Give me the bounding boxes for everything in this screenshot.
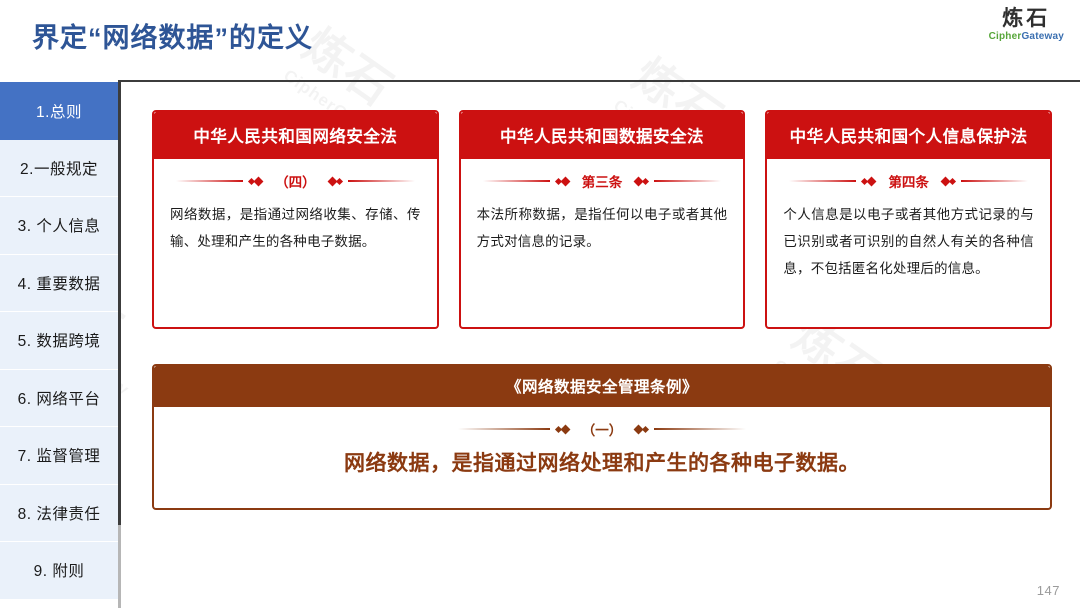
sidebar-item-5[interactable]: 5. 数据跨境 — [0, 312, 118, 370]
sidebar-item-8[interactable]: 8. 法律责任 — [0, 485, 118, 543]
ornate-divider: 第三条 — [477, 171, 728, 191]
ornate-divider: （四） — [170, 171, 421, 191]
law-card-personal-information: 中华人民共和国个人信息保护法 第四条 个人信息是以电子或者其他方式记录的与已识 — [765, 110, 1052, 329]
divider-diamonds-right — [635, 178, 648, 185]
sidebar-item-2[interactable]: 2.一般规定 — [0, 140, 118, 198]
regulation-box: 《网络数据安全管理条例》 （一） 网络数据，是指通过网络处理和产生的各种电子数据… — [152, 364, 1052, 510]
ornate-divider: （一） — [452, 419, 752, 439]
divider-rule-left — [176, 180, 243, 182]
sidebar-item-4[interactable]: 4. 重要数据 — [0, 255, 118, 313]
law-card-body: （四） 网络数据，是指通过网络收集、存储、传输、处理和产生的各种电子数据。 — [154, 159, 437, 327]
law-card-row: 中华人民共和国网络安全法 （四） 网络数据，是指通过网络收集、存储、传输、处理 — [152, 110, 1052, 329]
law-card-data-security: 中华人民共和国数据安全法 第三条 本法所称数据，是指任何以电子或者其他方式对信 — [459, 110, 746, 329]
law-card-text: 网络数据，是指通过网络收集、存储、传输、处理和产生的各种电子数据。 — [170, 201, 421, 255]
divider-diamonds-left — [249, 178, 262, 185]
sidebar-item-label: 6. 网络平台 — [18, 387, 101, 409]
logo-en-gateway: Gateway — [1021, 31, 1064, 42]
slide-canvas: 炼石 CipherGateway 炼石 CipherGateway 炼石 Cip… — [0, 0, 1080, 608]
logo-en-cipher: Cipher — [989, 31, 1022, 42]
regulation-body: （一） 网络数据，是指通过网络处理和产生的各种电子数据。 — [154, 419, 1050, 477]
sidebar-item-7[interactable]: 7. 监督管理 — [0, 427, 118, 485]
regulation-text: 网络数据，是指通过网络处理和产生的各种电子数据。 — [178, 447, 1026, 477]
diamond-icon — [254, 176, 264, 186]
sidebar-item-label: 7. 监督管理 — [18, 444, 101, 466]
divider-rule-left — [483, 180, 550, 182]
diamond-icon — [949, 177, 956, 184]
page-number: 147 — [1037, 583, 1060, 598]
logo-en-text: CipherGateway — [989, 32, 1064, 42]
diamond-icon — [867, 176, 877, 186]
divider-rule-left — [458, 428, 550, 430]
divider-rule-right — [654, 428, 746, 430]
clause-label: 第三条 — [575, 171, 630, 191]
sidebar-item-label: 9. 附则 — [34, 559, 85, 581]
divider-rule-right — [961, 180, 1028, 182]
divider-rule-right — [348, 180, 415, 182]
clause-label: （一） — [575, 419, 630, 439]
sidebar-item-label: 1.总则 — [36, 100, 82, 122]
divider-diamonds-right — [942, 178, 955, 185]
law-card-body: 第四条 个人信息是以电子或者其他方式记录的与已识别或者可识别的自然人有关的各种信… — [767, 159, 1050, 327]
diamond-icon — [642, 425, 649, 432]
sidebar-item-label: 4. 重要数据 — [18, 272, 101, 294]
divider-diamonds-left — [556, 426, 569, 433]
law-card-cybersecurity: 中华人民共和国网络安全法 （四） 网络数据，是指通过网络收集、存储、传输、处理 — [152, 110, 439, 329]
divider-diamonds-left — [556, 178, 569, 185]
regulation-title: 《网络数据安全管理条例》 — [152, 364, 1052, 407]
divider-rule-left — [789, 180, 856, 182]
sidebar-item-label: 2.一般规定 — [20, 157, 98, 179]
divider-rule-right — [654, 180, 721, 182]
sidebar-item-label: 3. 个人信息 — [18, 214, 101, 236]
law-card-title: 中华人民共和国数据安全法 — [459, 110, 746, 159]
sidebar-item-9[interactable]: 9. 附则 — [0, 542, 118, 600]
diamond-icon — [560, 424, 570, 434]
sidebar-divider-rail-lower — [118, 525, 121, 608]
sidebar-item-label: 5. 数据跨境 — [18, 329, 101, 351]
sidebar-item-3[interactable]: 3. 个人信息 — [0, 197, 118, 255]
law-card-title: 中华人民共和国网络安全法 — [152, 110, 439, 159]
law-card-text: 本法所称数据，是指任何以电子或者其他方式对信息的记录。 — [477, 201, 728, 255]
divider-diamonds-right — [635, 426, 648, 433]
law-card-text: 个人信息是以电子或者其他方式记录的与已识别或者可识别的自然人有关的各种信息，不包… — [783, 201, 1034, 282]
sidebar-item-6[interactable]: 6. 网络平台 — [0, 370, 118, 428]
page-title: 界定“网络数据”的定义 — [32, 16, 313, 55]
divider-diamonds-right — [329, 178, 342, 185]
diamond-icon — [642, 177, 649, 184]
law-card-title: 中华人民共和国个人信息保护法 — [765, 110, 1052, 159]
diamond-icon — [560, 176, 570, 186]
sidebar-item-1[interactable]: 1.总则 — [0, 82, 118, 140]
law-card-body: 第三条 本法所称数据，是指任何以电子或者其他方式对信息的记录。 — [461, 159, 744, 327]
logo-cn-text: 炼石 — [989, 8, 1064, 29]
clause-label: 第四条 — [881, 171, 936, 191]
ornate-divider: 第四条 — [783, 171, 1034, 191]
sidebar-nav: 1.总则 2.一般规定 3. 个人信息 4. 重要数据 5. 数据跨境 6. 网… — [0, 82, 118, 608]
clause-label: （四） — [268, 171, 323, 191]
diamond-icon — [336, 177, 343, 184]
header-divider-rule — [120, 80, 1080, 82]
divider-diamonds-left — [862, 178, 875, 185]
brand-logo: 炼石 CipherGateway — [989, 8, 1064, 42]
sidebar-item-label: 8. 法律责任 — [18, 502, 101, 524]
